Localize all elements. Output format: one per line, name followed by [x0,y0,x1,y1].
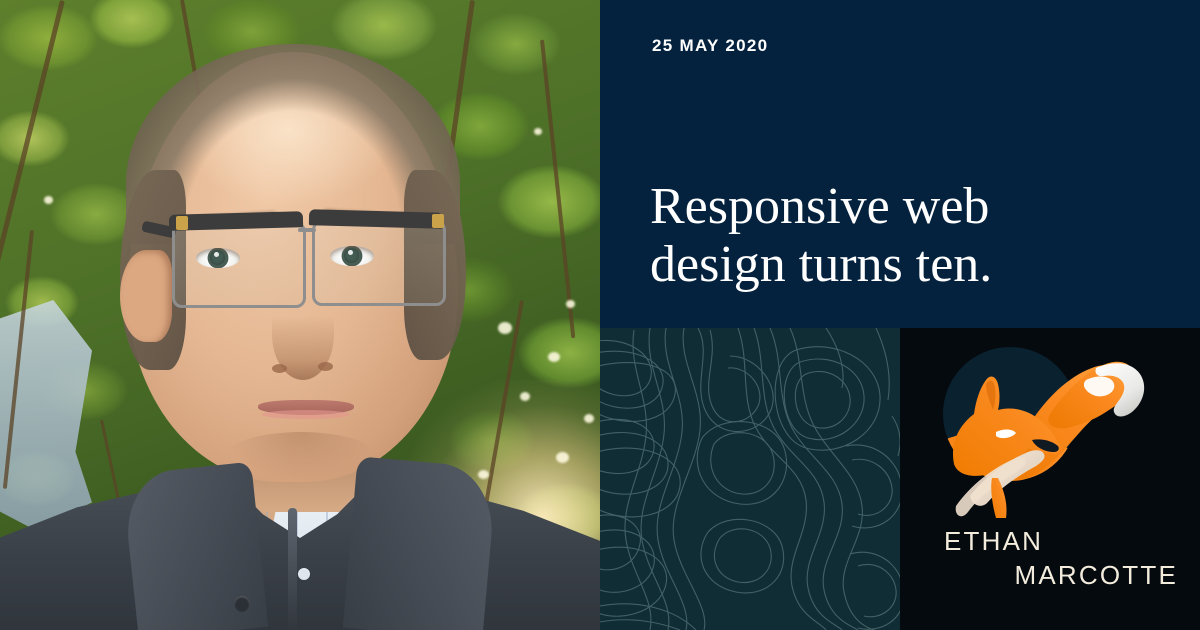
nostril-right [318,362,333,371]
lower-lip-highlight [262,410,350,419]
eyeglasses-hinge-left [176,216,188,230]
social-share-card: 25 MAY 2020 Responsive web design turns … [0,0,1200,630]
brand-name-line-1: ETHAN [900,524,1200,558]
title-panel: 25 MAY 2020 Responsive web design turns … [600,0,1200,328]
ear-left [120,250,172,342]
fox-logo-icon [900,328,1200,538]
eyeglasses-lens-right [312,220,446,306]
publish-date: 25 MAY 2020 [652,36,768,56]
person-portrait [0,0,600,630]
title-line-1: Responsive web [650,178,989,235]
right-column: 25 MAY 2020 Responsive web design turns … [600,0,1200,630]
shirt-button [298,568,310,580]
eyeglasses-lens-left [172,222,306,308]
jacket-collar-right [343,456,497,630]
brand-wordmark: ETHAN MARCOTTE [900,524,1200,592]
page-title: Responsive web design turns ten. [650,178,1170,294]
eyeglasses-bridge [298,228,316,232]
brand-name-line-2: MARCOTTE [900,558,1200,592]
jacket-zipper [288,508,297,630]
eyeglasses-hinge-right [432,214,444,228]
topographic-contour-pattern [600,328,900,630]
nostril-left [272,364,287,373]
portrait-photo [0,0,600,630]
topographic-pattern-panel [600,328,900,630]
title-line-2: design turns ten. [650,236,992,293]
jacket-button [234,596,250,612]
brand-logo-panel: ETHAN MARCOTTE [900,328,1200,630]
